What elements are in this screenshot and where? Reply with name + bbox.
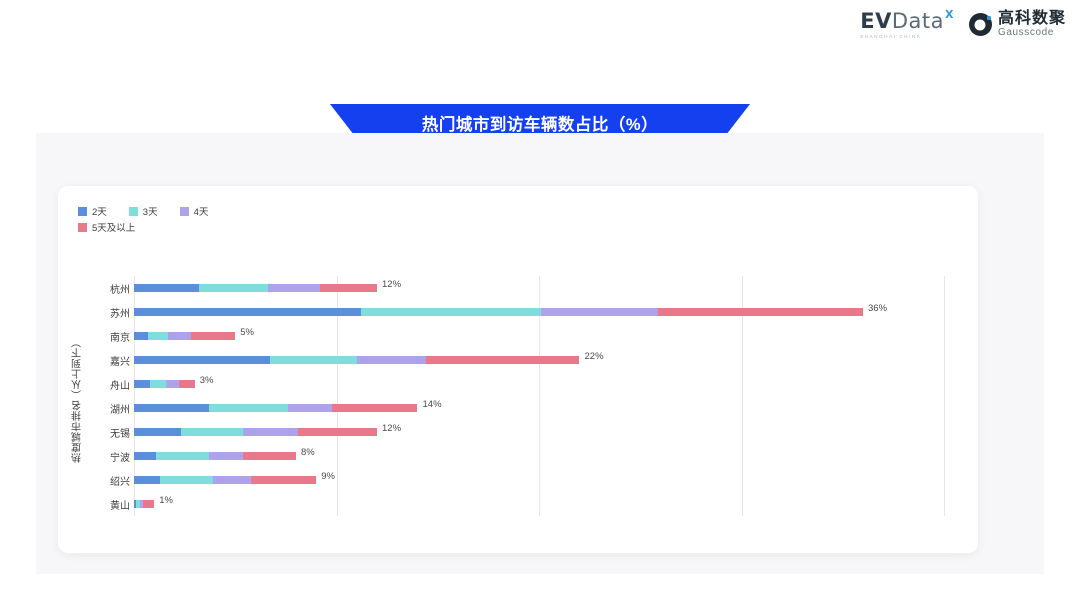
gridline (944, 276, 945, 516)
bar-segment[interactable] (288, 404, 333, 412)
bar-segment[interactable] (143, 500, 154, 508)
bar-segment[interactable] (134, 284, 199, 292)
y-axis-tick-label: 舟山 (96, 372, 130, 396)
y-axis-tick-label: 苏州 (96, 300, 130, 324)
bar-segment[interactable] (134, 476, 160, 484)
bar-segment[interactable] (243, 428, 298, 436)
legend-item[interactable]: 2天 (78, 205, 107, 217)
y-axis-tick-label: 黄山 (96, 492, 130, 516)
bar-value-label: 36% (868, 303, 887, 314)
logo-bar: EVDataX shanghai china 高科数聚 Gausscode (860, 11, 1066, 39)
bar-segment[interactable] (134, 308, 361, 316)
bar-segment[interactable] (209, 404, 288, 412)
stacked-bar[interactable] (134, 452, 296, 460)
stacked-bar[interactable] (134, 404, 417, 412)
legend-swatch-icon (78, 223, 87, 232)
bar-segment[interactable] (179, 380, 195, 388)
bar-value-label: 5% (240, 327, 254, 338)
bar-segment[interactable] (541, 308, 658, 316)
bar-value-label: 1% (159, 495, 173, 506)
bar-value-label: 14% (423, 399, 442, 410)
y-axis-tick-label: 南京 (96, 324, 130, 348)
bar-row[interactable]: 9% (134, 468, 944, 492)
bar-row[interactable]: 8% (134, 444, 944, 468)
bar-segment[interactable] (658, 308, 863, 316)
bar-segment[interactable] (168, 332, 190, 340)
bar-segment[interactable] (191, 332, 236, 340)
bar-segment[interactable] (134, 428, 181, 436)
gausscode-g-mark-icon (969, 13, 992, 36)
stacked-bar[interactable] (134, 356, 579, 364)
bar-row[interactable]: 3% (134, 372, 944, 396)
evdata-wordmark: EVDataX (860, 11, 953, 32)
bar-segment[interactable] (134, 332, 148, 340)
y-axis-tick-label: 湖州 (96, 396, 130, 420)
bar-segment[interactable] (150, 380, 166, 388)
bar-value-label: 8% (301, 447, 315, 458)
bar-segment[interactable] (270, 356, 357, 364)
bar-value-label: 12% (382, 423, 401, 434)
page-title: 热门城市到访车辆数占比（%） (422, 111, 658, 135)
legend-swatch-icon (180, 207, 189, 216)
bar-segment[interactable] (148, 332, 168, 340)
y-axis-tick-label: 嘉兴 (96, 348, 130, 372)
legend-label: 4天 (194, 204, 209, 218)
stacked-bar[interactable] (134, 380, 195, 388)
bar-segment[interactable] (156, 452, 209, 460)
chart-legend: 2天3天4天5天及以上 (78, 205, 338, 237)
legend-item[interactable]: 3天 (129, 205, 158, 217)
y-axis-tick-label: 杭州 (96, 276, 130, 300)
bar-row[interactable]: 5% (134, 324, 944, 348)
bar-segment[interactable] (134, 404, 209, 412)
bar-row[interactable]: 12% (134, 420, 944, 444)
bar-segment[interactable] (134, 452, 156, 460)
bar-segment[interactable] (332, 404, 417, 412)
evdata-ev-text: EV (860, 11, 892, 32)
legend-swatch-icon (78, 207, 87, 216)
bar-row[interactable]: 14% (134, 396, 944, 420)
y-axis-tick-label: 绍兴 (96, 468, 130, 492)
bar-segment[interactable] (134, 356, 270, 364)
gausscode-text: 高科数聚 Gausscode (998, 11, 1066, 38)
bar-segment[interactable] (166, 380, 178, 388)
bar-segment[interactable] (426, 356, 580, 364)
stacked-bar[interactable] (134, 500, 154, 508)
y-axis-tick-labels: 杭州苏州南京嘉兴舟山湖州无锡宁波绍兴黄山 (96, 276, 130, 516)
bar-segment[interactable] (213, 476, 251, 484)
bar-rows: 12%36%5%22%3%14%12%8%9%1% (134, 276, 944, 516)
evdata-data-text: Data (892, 11, 944, 32)
bar-segment[interactable] (134, 380, 150, 388)
bar-segment[interactable] (298, 428, 377, 436)
gausscode-cn-name: 高科数聚 (998, 11, 1066, 28)
stacked-bar[interactable] (134, 428, 377, 436)
stacked-bar[interactable] (134, 284, 377, 292)
bar-row[interactable]: 1% (134, 492, 944, 516)
bar-value-label: 9% (321, 471, 335, 482)
slide-root: EVDataX shanghai china 高科数聚 Gausscode 热门… (0, 0, 1080, 608)
bar-value-label: 3% (200, 375, 214, 386)
y-axis-tick-label: 宁波 (96, 444, 130, 468)
bar-segment[interactable] (320, 284, 377, 292)
bar-row[interactable]: 36% (134, 300, 944, 324)
gausscode-logo: 高科数聚 Gausscode (969, 11, 1066, 38)
bar-value-label: 12% (382, 279, 401, 290)
evdata-logo: EVDataX shanghai china (860, 11, 953, 39)
bar-segment[interactable] (181, 428, 244, 436)
legend-item[interactable]: 4天 (180, 205, 209, 217)
bar-segment[interactable] (251, 476, 316, 484)
bar-segment[interactable] (199, 284, 268, 292)
legend-label: 2天 (92, 204, 107, 218)
bar-segment[interactable] (160, 476, 213, 484)
bar-row[interactable]: 12% (134, 276, 944, 300)
legend-item[interactable]: 5天及以上 (78, 221, 338, 233)
bar-segment[interactable] (357, 356, 426, 364)
stacked-bar[interactable] (134, 308, 863, 316)
y-axis-title: 热度城市排名（从上到下） (70, 310, 86, 490)
y-axis-tick-label: 无锡 (96, 420, 130, 444)
bar-segment[interactable] (361, 308, 541, 316)
bar-segment[interactable] (209, 452, 243, 460)
stacked-bar[interactable] (134, 476, 316, 484)
legend-label: 3天 (143, 204, 158, 218)
gausscode-en-name: Gausscode (998, 28, 1066, 39)
evdata-tagline: shanghai china (860, 34, 921, 39)
chart-plot-area: 12%36%5%22%3%14%12%8%9%1% (134, 276, 944, 516)
legend-label: 5天及以上 (92, 220, 135, 234)
stacked-bar[interactable] (134, 332, 235, 340)
bar-value-label: 22% (585, 351, 604, 362)
evdata-superscript-x: X (945, 9, 954, 20)
legend-swatch-icon (129, 207, 138, 216)
bar-segment[interactable] (268, 284, 321, 292)
bar-row[interactable]: 22% (134, 348, 944, 372)
bar-segment[interactable] (243, 452, 296, 460)
